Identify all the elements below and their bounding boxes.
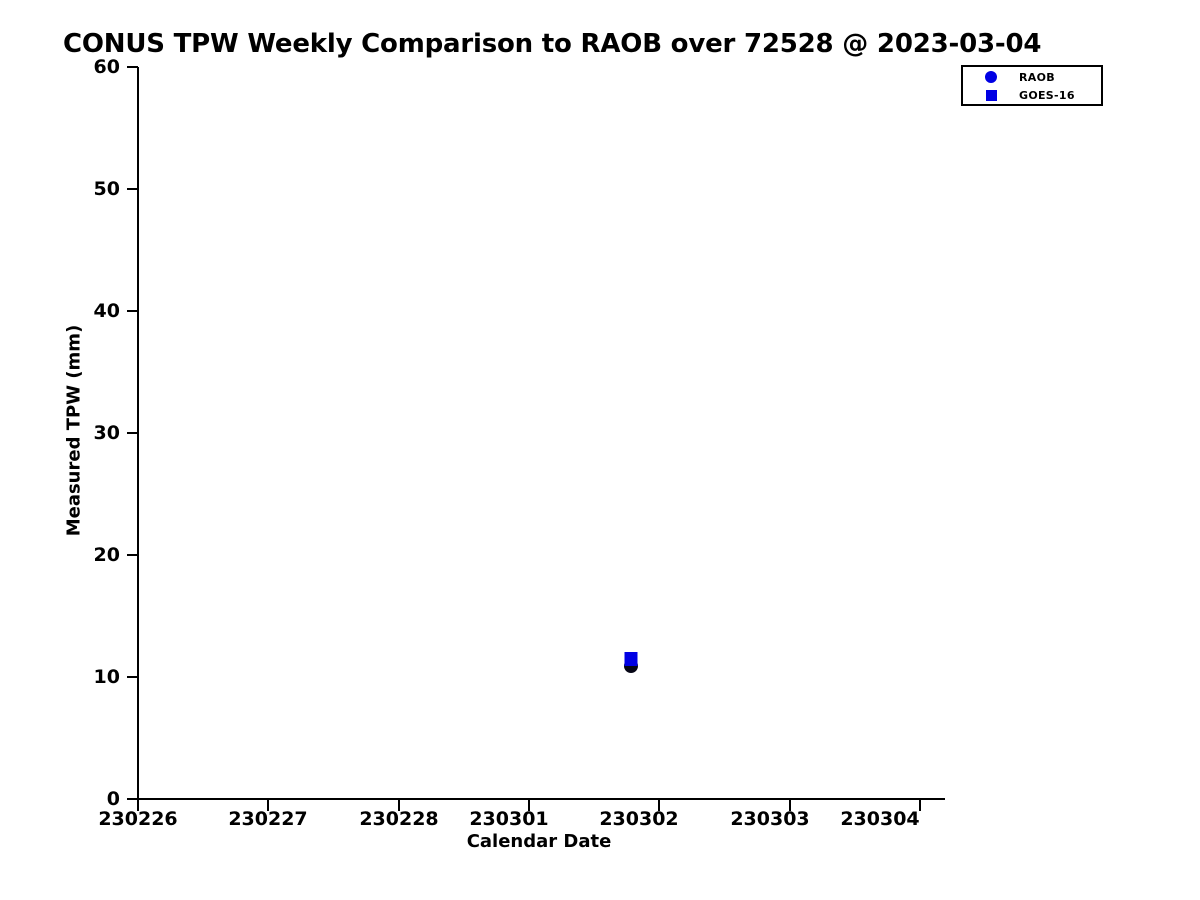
y-axis-tick [127, 676, 138, 678]
x-axis-tick-label: 230227 [228, 808, 307, 830]
data-point-goes16 [625, 652, 638, 666]
y-axis-tick [127, 66, 138, 68]
y-axis-title: Measured TPW (mm) [64, 311, 85, 551]
y-axis-tick-label: 60 [68, 56, 120, 78]
y-axis-tick [127, 188, 138, 190]
legend-entry-raob: RAOB [963, 67, 1101, 87]
legend: RAOB GOES-16 [961, 65, 1103, 106]
x-axis-tick-label: 230226 [98, 808, 177, 830]
x-axis-tick-label: 230228 [359, 808, 438, 830]
y-axis-tick [127, 310, 138, 312]
chart-figure: CONUS TPW Weekly Comparison to RAOB over… [0, 0, 1200, 900]
y-axis-tick-label: 50 [68, 178, 120, 200]
chart-title: CONUS TPW Weekly Comparison to RAOB over… [63, 29, 1041, 59]
y-axis-tick [127, 432, 138, 434]
legend-circle-icon [963, 71, 1019, 83]
x-axis-tick-label: 230304 [840, 808, 919, 830]
y-axis-tick-label: 0 [68, 788, 120, 810]
legend-entry-goes16: GOES-16 [963, 85, 1101, 105]
legend-square-icon [963, 90, 1019, 101]
legend-label-raob: RAOB [1019, 71, 1055, 84]
x-axis-tick-label: 230301 [469, 808, 548, 830]
x-axis-tick-label: 230303 [730, 808, 809, 830]
plot-area [138, 67, 945, 799]
x-axis-title: Calendar Date [0, 831, 1078, 852]
legend-label-goes16: GOES-16 [1019, 89, 1075, 102]
y-axis-tick-label: 10 [68, 666, 120, 688]
x-axis-line [137, 798, 945, 800]
y-axis-tick [127, 554, 138, 556]
x-axis-tick-label: 230302 [599, 808, 678, 830]
